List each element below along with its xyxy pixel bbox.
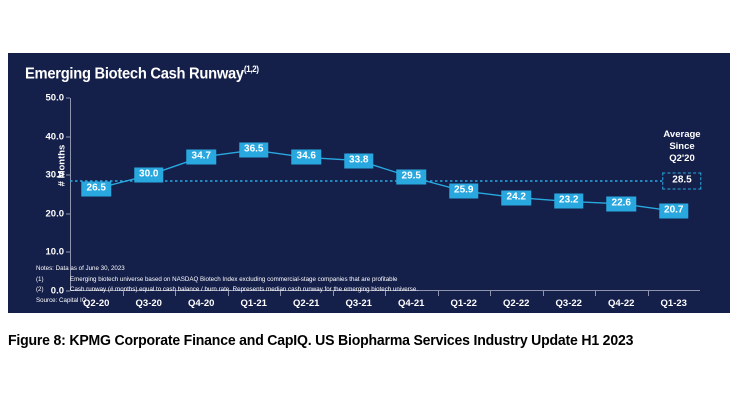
x-axis-category-separator bbox=[438, 291, 439, 296]
notes-line-0: Notes: Data as of June 30, 2023 bbox=[36, 264, 418, 275]
y-axis-tick-label: 10.0 bbox=[46, 247, 65, 258]
notes-line-2: (2)Cash runway (# months) equal to cash … bbox=[36, 285, 418, 296]
average-value-box: 28.5 bbox=[662, 172, 701, 189]
notes-1-text: Emerging biotech universe based on NASDA… bbox=[70, 276, 397, 283]
x-axis-category-separator bbox=[648, 291, 649, 296]
x-axis-label-q2-22: Q2-22 bbox=[503, 298, 529, 309]
x-axis-label-q4-22: Q4-22 bbox=[608, 298, 634, 309]
data-label-q3-22: 23.2 bbox=[554, 194, 583, 209]
plot-area: # Months 0.010.020.030.040.050.0 Q2-20Q3… bbox=[70, 98, 700, 291]
x-axis-label-q1-22: Q1-22 bbox=[451, 298, 477, 309]
average-caption: Average Since Q2'20 bbox=[663, 129, 700, 165]
data-label-q4-21: 29.5 bbox=[397, 170, 426, 185]
data-label-q1-21: 36.5 bbox=[239, 143, 268, 158]
chart-title: Emerging Biotech Cash Runway(1,2) bbox=[25, 64, 259, 83]
y-axis-tick-label: 20.0 bbox=[46, 208, 65, 219]
notes-source: Source: Capital IQ bbox=[36, 296, 418, 307]
data-label-q3-21: 33.8 bbox=[344, 153, 373, 168]
y-axis-tick-label: 50.0 bbox=[46, 93, 65, 104]
data-label-q3-20: 30.0 bbox=[134, 168, 163, 183]
series-lines bbox=[70, 98, 700, 291]
chart-title-text: Emerging Biotech Cash Runway bbox=[25, 65, 244, 82]
notes-line-1: (1)Emerging biotech universe based on NA… bbox=[36, 275, 418, 286]
x-axis-category-separator bbox=[595, 291, 596, 296]
chart-card: Emerging Biotech Cash Runway(1,2) # Mont… bbox=[8, 53, 730, 313]
x-axis-label-q1-23: Q1-23 bbox=[661, 298, 687, 309]
notes-2-text: Cash runway (# months) equal to cash bal… bbox=[70, 286, 418, 293]
data-label-q1-23: 20.7 bbox=[659, 204, 688, 219]
notes-1-number: (1) bbox=[36, 275, 70, 286]
data-label-q2-21: 34.6 bbox=[292, 150, 321, 165]
average-caption-line1: Average bbox=[663, 129, 700, 140]
x-axis-category-separator bbox=[490, 291, 491, 296]
data-label-q2-22: 24.2 bbox=[502, 190, 531, 205]
notes-2-number: (2) bbox=[36, 285, 70, 296]
average-caption-line3: Q2'20 bbox=[669, 153, 695, 164]
chart-title-superscript: (1,2) bbox=[244, 64, 259, 74]
y-axis-tick-label: 30.0 bbox=[46, 170, 65, 181]
y-axis-tick-label: 40.0 bbox=[46, 131, 65, 142]
data-label-q2-20: 26.5 bbox=[82, 181, 111, 196]
data-label-q4-22: 22.6 bbox=[607, 196, 636, 211]
data-label-q4-20: 34.7 bbox=[187, 150, 216, 165]
data-label-q1-22: 25.9 bbox=[449, 184, 478, 199]
figure-caption: Figure 8: KPMG Corporate Finance and Cap… bbox=[8, 333, 633, 349]
x-axis-category-separator bbox=[543, 291, 544, 296]
x-axis-label-q3-22: Q3-22 bbox=[556, 298, 582, 309]
chart-notes: Notes: Data as of June 30, 2023 (1)Emerg… bbox=[36, 264, 418, 307]
average-caption-line2: Since bbox=[669, 141, 694, 152]
